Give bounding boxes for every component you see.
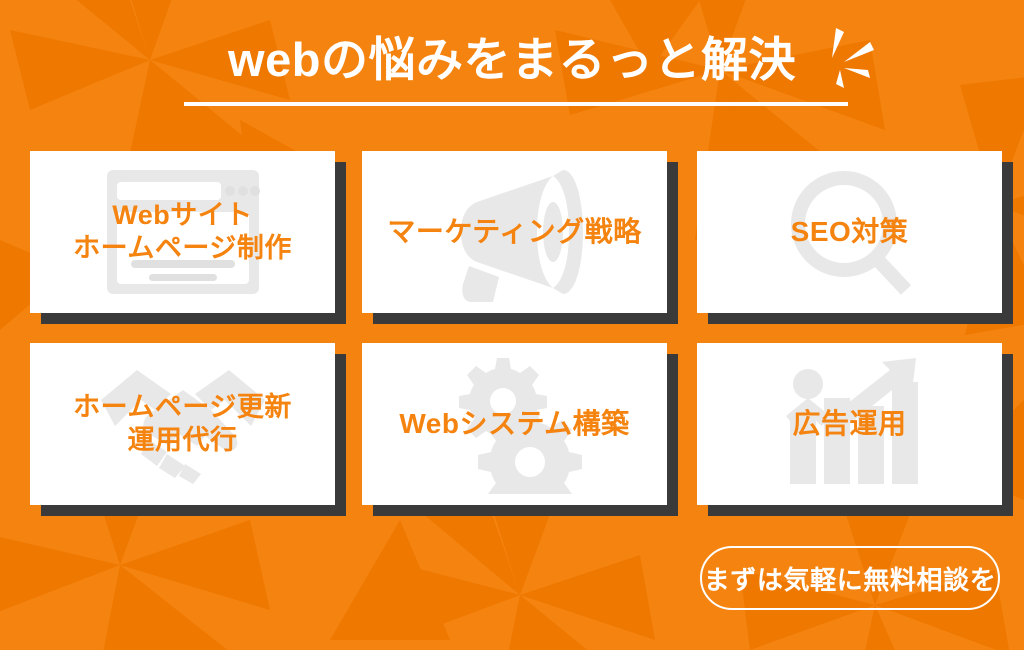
service-card[interactable]: ホームページ更新 運用代行 (30, 343, 335, 505)
card-label: マーケティング戦略 (362, 215, 667, 249)
service-card[interactable]: SEO対策 (697, 151, 1002, 313)
card-label: SEO対策 (697, 215, 1002, 249)
card-face: Webサイト ホームページ制作 (30, 151, 335, 313)
card-label: Webシステム構築 (362, 407, 667, 441)
service-card-grid: Webサイト ホームページ制作 マーケティング戦略 (30, 151, 1014, 523)
service-card[interactable]: 広告運用 (697, 343, 1002, 505)
card-face: ホームページ更新 運用代行 (30, 343, 335, 505)
card-label: 広告運用 (697, 407, 1002, 441)
service-card[interactable]: Webシステム構築 (362, 343, 667, 505)
card-face: マーケティング戦略 (362, 151, 667, 313)
sparkle-burst-icon (818, 26, 888, 96)
card-label: ホームページ更新 運用代行 (30, 391, 335, 457)
service-card[interactable]: Webサイト ホームページ制作 (30, 151, 335, 313)
cta-label: まずは気軽に無料相談を (704, 560, 997, 597)
service-card[interactable]: マーケティング戦略 (362, 151, 667, 313)
promo-banner: webの悩みをまるっと解決 (0, 0, 1024, 650)
page-title: webの悩みをまるっと解決 (228, 34, 796, 87)
card-face: SEO対策 (697, 151, 1002, 313)
headline-underline (184, 102, 848, 106)
free-consultation-cta-button[interactable]: まずは気軽に無料相談を (700, 546, 1000, 610)
card-face: Webシステム構築 (362, 343, 667, 505)
card-label: Webサイト ホームページ制作 (30, 199, 335, 265)
card-face: 広告運用 (697, 343, 1002, 505)
